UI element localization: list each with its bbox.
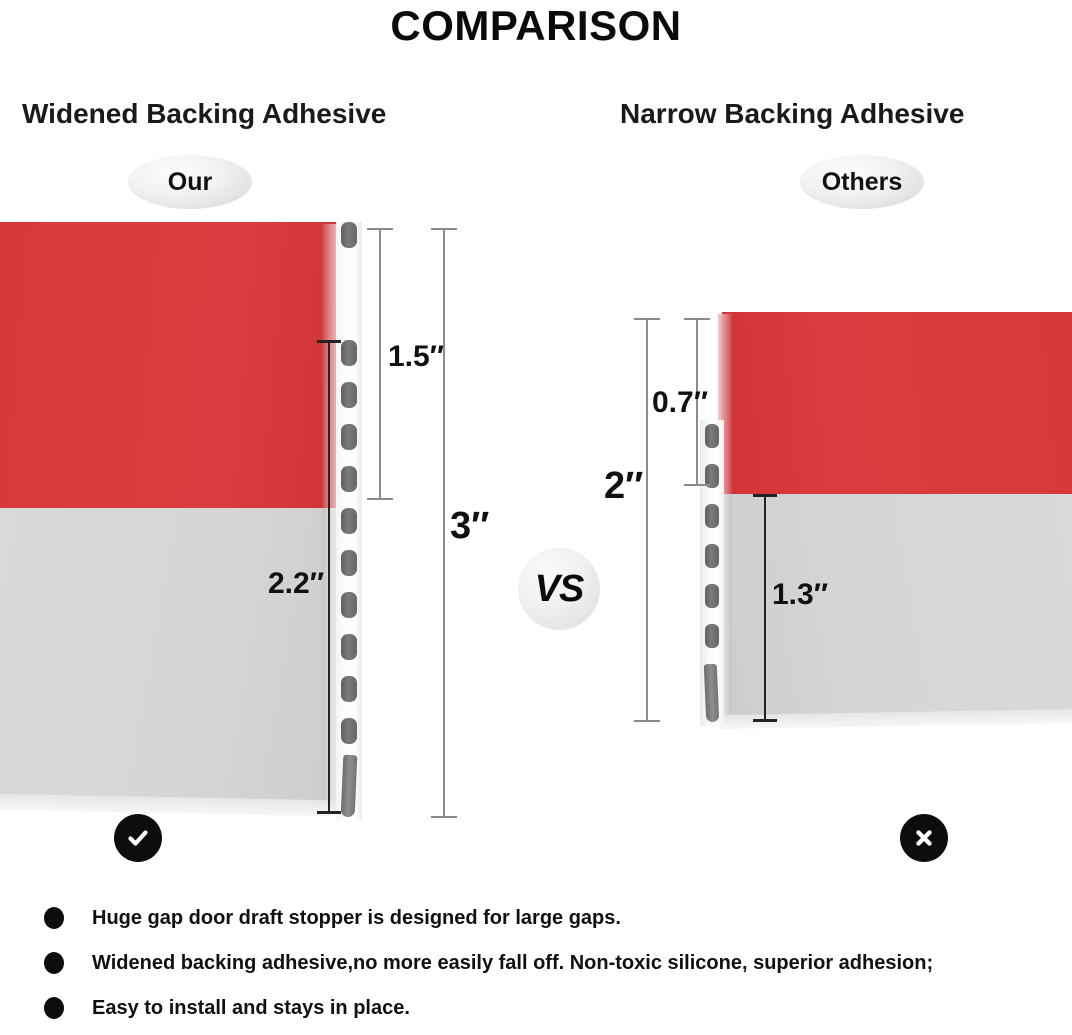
dimension-label-right-skirt: 1.3″ [772,578,828,612]
strip-segment [341,340,357,366]
verdict-badge-cross [900,814,948,862]
dimension-label-right-adhesive: 0.7″ [652,386,708,420]
column-heading-right: Narrow Backing Adhesive [620,98,964,130]
bullet-dot-icon [44,952,64,974]
close-icon [911,825,937,851]
adhesive-backing-panel-right [722,312,1072,496]
product-illustration-right [690,312,1072,732]
strip-segment [341,508,357,534]
check-icon [124,824,152,852]
list-item: Easy to install and stays in place. [44,990,1044,1026]
vs-badge-label: VS [535,568,584,611]
list-item: Widened backing adhesive,no more easily … [44,945,1044,981]
feature-list: Huge gap door draft stopper is designed … [44,900,1044,1035]
list-item: Huge gap door draft stopper is designed … [44,900,1044,936]
verdict-badge-check [114,814,162,862]
strip-segment [705,544,719,568]
badge-our: Our [128,155,252,209]
badge-others: Others [800,155,924,209]
strip-tail-left [341,755,358,818]
strip-segment [341,634,357,660]
column-heading-left: Widened Backing Adhesive [22,98,386,130]
list-item-label: Huge gap door draft stopper is designed … [92,907,621,930]
strip-segment [341,718,357,744]
dimension-line-right-total [634,318,660,722]
dimension-label-left-skirt: 2.2″ [268,567,324,601]
list-item-label: Widened backing adhesive,no more easily … [92,952,933,975]
strip-segment [341,466,357,492]
strip-segment [341,676,357,702]
dimension-label-right-total: 2″ [604,465,643,508]
bullet-dot-icon [44,907,64,929]
strip-segment [341,424,357,450]
strip-segment [341,382,357,408]
strip-tail-right [704,664,720,723]
strip-segment [341,222,357,248]
adhesive-backing-panel-left [0,222,336,510]
vs-badge: VS [518,548,600,630]
list-item-label: Easy to install and stays in place. [92,997,410,1020]
strip-segment [341,592,357,618]
strip-segment [705,584,719,608]
silicone-skirt-left [0,508,336,808]
page-title: COMPARISON [0,2,1072,50]
dimension-label-left-total: 3″ [450,505,489,548]
strip-segment [341,550,357,576]
strip-segment [705,504,719,528]
strip-segment [705,624,719,648]
bullet-dot-icon [44,997,64,1019]
